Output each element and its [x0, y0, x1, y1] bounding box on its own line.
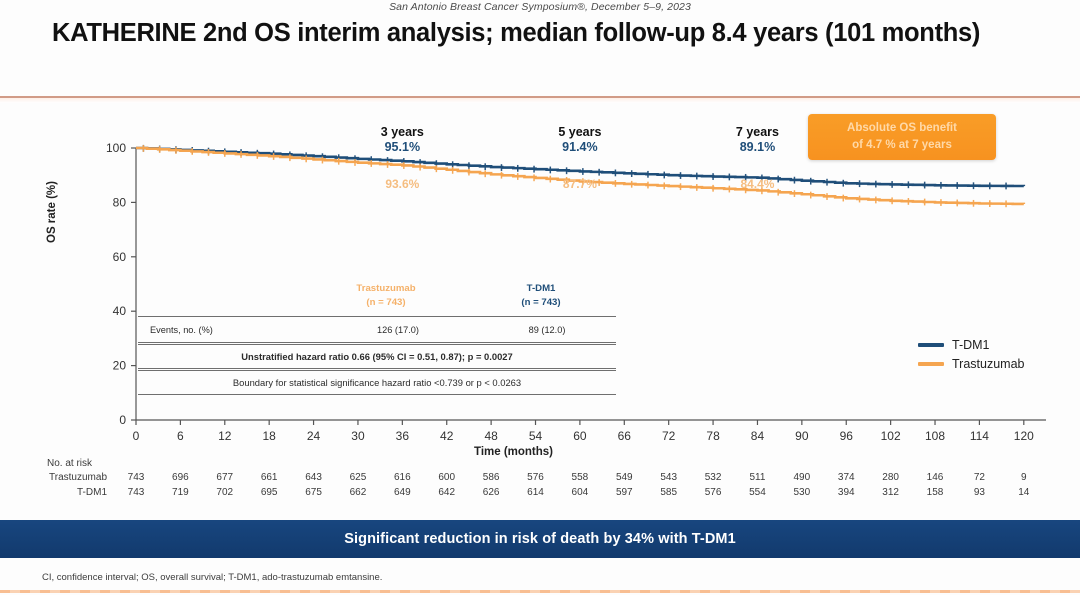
at-risk-cell: 600 — [427, 472, 467, 483]
at-risk-cell: 625 — [338, 472, 378, 483]
at-risk-cell: 9 — [1004, 472, 1044, 483]
os-benefit-callout: Absolute OS benefit of 4.7 % at 7 years — [808, 114, 996, 160]
stats-header-trastuzumab-n: (n = 743) — [306, 296, 466, 310]
at-risk-cell: 696 — [160, 472, 200, 483]
at-risk-cell: 743 — [116, 472, 156, 483]
at-risk-cell: 511 — [737, 472, 777, 483]
at-risk-cell: 662 — [338, 487, 378, 498]
svg-text:54: 54 — [529, 429, 543, 443]
svg-text:93.6%: 93.6% — [385, 177, 419, 191]
svg-text:24: 24 — [307, 429, 321, 443]
legend-label: T-DM1 — [952, 338, 990, 352]
legend-label: Trastuzumab — [952, 357, 1024, 371]
stats-header-tdm1-n: (n = 743) — [466, 296, 616, 310]
legend-swatch-icon — [918, 362, 944, 366]
at-risk-cell: 532 — [693, 472, 733, 483]
at-risk-cell: 490 — [782, 472, 822, 483]
at-risk-cell: 702 — [205, 487, 245, 498]
svg-text:7 years: 7 years — [736, 125, 779, 139]
svg-text:20: 20 — [113, 359, 127, 373]
at-risk-cell: 14 — [1004, 487, 1044, 498]
at-risk-cell: 604 — [560, 487, 600, 498]
svg-text:48: 48 — [484, 429, 498, 443]
x-axis-label: Time (months) — [474, 446, 553, 458]
bottom-rule — [0, 590, 1080, 593]
svg-text:5 years: 5 years — [558, 125, 601, 139]
slide: San Antonio Breast Cancer Symposium®, De… — [0, 0, 1080, 595]
at-risk-cell: 280 — [871, 472, 911, 483]
at-risk-cell: 586 — [471, 472, 511, 483]
boundary-text: Boundary for statistical significance ha… — [138, 371, 616, 394]
stats-header-blank — [138, 282, 306, 316]
svg-text:60: 60 — [113, 250, 127, 264]
stats-rule-4 — [138, 394, 616, 395]
at-risk-cell: 649 — [382, 487, 422, 498]
stats-header-tdm1-name: T-DM1 — [466, 282, 616, 296]
at-risk-cell: 642 — [427, 487, 467, 498]
svg-text:84.4%: 84.4% — [740, 177, 774, 191]
svg-text:89.1%: 89.1% — [740, 140, 775, 154]
svg-text:0: 0 — [119, 413, 126, 427]
at-risk-row-label: Trastuzumab — [12, 472, 107, 483]
stats-header-trastuzumab: Trastuzumab (n = 743) — [306, 282, 466, 316]
at-risk-cell: 616 — [382, 472, 422, 483]
svg-text:18: 18 — [262, 429, 276, 443]
at-risk-cell: 543 — [649, 472, 689, 483]
svg-text:6: 6 — [177, 429, 184, 443]
footnote: CI, confidence interval; OS, overall sur… — [42, 572, 382, 583]
page-title: KATHERINE 2nd OS interim analysis; media… — [52, 18, 992, 49]
svg-text:3 years: 3 years — [381, 125, 424, 139]
at-risk-cell: 743 — [116, 487, 156, 498]
svg-text:12: 12 — [218, 429, 232, 443]
at-risk-cell: 597 — [604, 487, 644, 498]
svg-text:87.7%: 87.7% — [563, 177, 597, 191]
chart-annotations: 3 years95.1%93.6%5 years91.4%87.7%7 year… — [381, 125, 779, 191]
svg-text:90: 90 — [795, 429, 809, 443]
svg-text:30: 30 — [351, 429, 365, 443]
at-risk-cell: 374 — [826, 472, 866, 483]
y-axis-label: OS rate (%) — [46, 181, 58, 243]
svg-text:42: 42 — [440, 429, 454, 443]
legend-item-t-dm1: T-DM1 — [918, 338, 1024, 352]
stats-header-tdm1: T-DM1 (n = 743) — [466, 282, 616, 316]
table-row: Events, no. (%) 126 (17.0) 89 (12.0) — [138, 317, 616, 342]
at-risk-cell: 576 — [516, 472, 556, 483]
hazard-ratio-text: Unstratified hazard ratio 0.66 (95% CI =… — [138, 345, 616, 368]
conference-header: San Antonio Breast Cancer Symposium®, De… — [0, 1, 1080, 13]
svg-text:40: 40 — [113, 304, 127, 318]
svg-text:95.1%: 95.1% — [385, 140, 420, 154]
svg-text:36: 36 — [396, 429, 410, 443]
svg-text:80: 80 — [113, 195, 127, 209]
svg-text:108: 108 — [925, 429, 945, 443]
at-risk-cell: 554 — [737, 487, 777, 498]
at-risk-cell: 677 — [205, 472, 245, 483]
svg-text:102: 102 — [881, 429, 901, 443]
at-risk-cell: 558 — [560, 472, 600, 483]
at-risk-cell: 643 — [294, 472, 334, 483]
at-risk-cell: 158 — [915, 487, 955, 498]
stats-rule-2 — [138, 342, 616, 343]
at-risk-cell: 394 — [826, 487, 866, 498]
conclusion-banner: Significant reduction in risk of death b… — [0, 520, 1080, 558]
at-risk-cell: 549 — [604, 472, 644, 483]
at-risk-cell: 93 — [959, 487, 999, 498]
at-risk-title: No. at risk — [47, 458, 92, 469]
callout-line-2: of 4.7 % at 7 years — [852, 137, 952, 154]
stats-row-label: Events, no. (%) — [138, 325, 318, 335]
at-risk-row-label: T-DM1 — [12, 487, 107, 498]
at-risk-cell: 719 — [160, 487, 200, 498]
svg-text:84: 84 — [751, 429, 765, 443]
callout-line-1: Absolute OS benefit — [847, 120, 957, 137]
svg-text:120: 120 — [1014, 429, 1034, 443]
svg-text:0: 0 — [133, 429, 140, 443]
at-risk-cell: 695 — [249, 487, 289, 498]
at-risk-cell: 661 — [249, 472, 289, 483]
stats-table: Trastuzumab (n = 743) T-DM1 (n = 743) Ev… — [138, 282, 616, 395]
at-risk-cell: 146 — [915, 472, 955, 483]
stats-rule-3 — [138, 368, 616, 369]
legend-swatch-icon — [918, 343, 944, 347]
svg-text:66: 66 — [618, 429, 632, 443]
title-divider-glow — [0, 98, 1080, 103]
svg-text:100: 100 — [106, 141, 126, 155]
svg-text:78: 78 — [706, 429, 720, 443]
at-risk-cell: 576 — [693, 487, 733, 498]
chart-legend: T-DM1Trastuzumab — [918, 338, 1024, 376]
svg-text:60: 60 — [573, 429, 587, 443]
legend-item-trastuzumab: Trastuzumab — [918, 357, 1024, 371]
stats-header-trastuzumab-name: Trastuzumab — [306, 282, 466, 296]
stats-row-tdm1: 89 (12.0) — [478, 325, 616, 335]
at-risk-cell: 675 — [294, 487, 334, 498]
at-risk-cell: 614 — [516, 487, 556, 498]
at-risk-cell: 72 — [959, 472, 999, 483]
at-risk-cell: 312 — [871, 487, 911, 498]
svg-text:96: 96 — [840, 429, 854, 443]
svg-text:72: 72 — [662, 429, 676, 443]
svg-text:114: 114 — [970, 429, 989, 443]
at-risk-cell: 626 — [471, 487, 511, 498]
svg-text:91.4%: 91.4% — [562, 140, 597, 154]
stats-row-trastuzumab: 126 (17.0) — [318, 325, 478, 335]
at-risk-cell: 585 — [649, 487, 689, 498]
at-risk-cell: 530 — [782, 487, 822, 498]
